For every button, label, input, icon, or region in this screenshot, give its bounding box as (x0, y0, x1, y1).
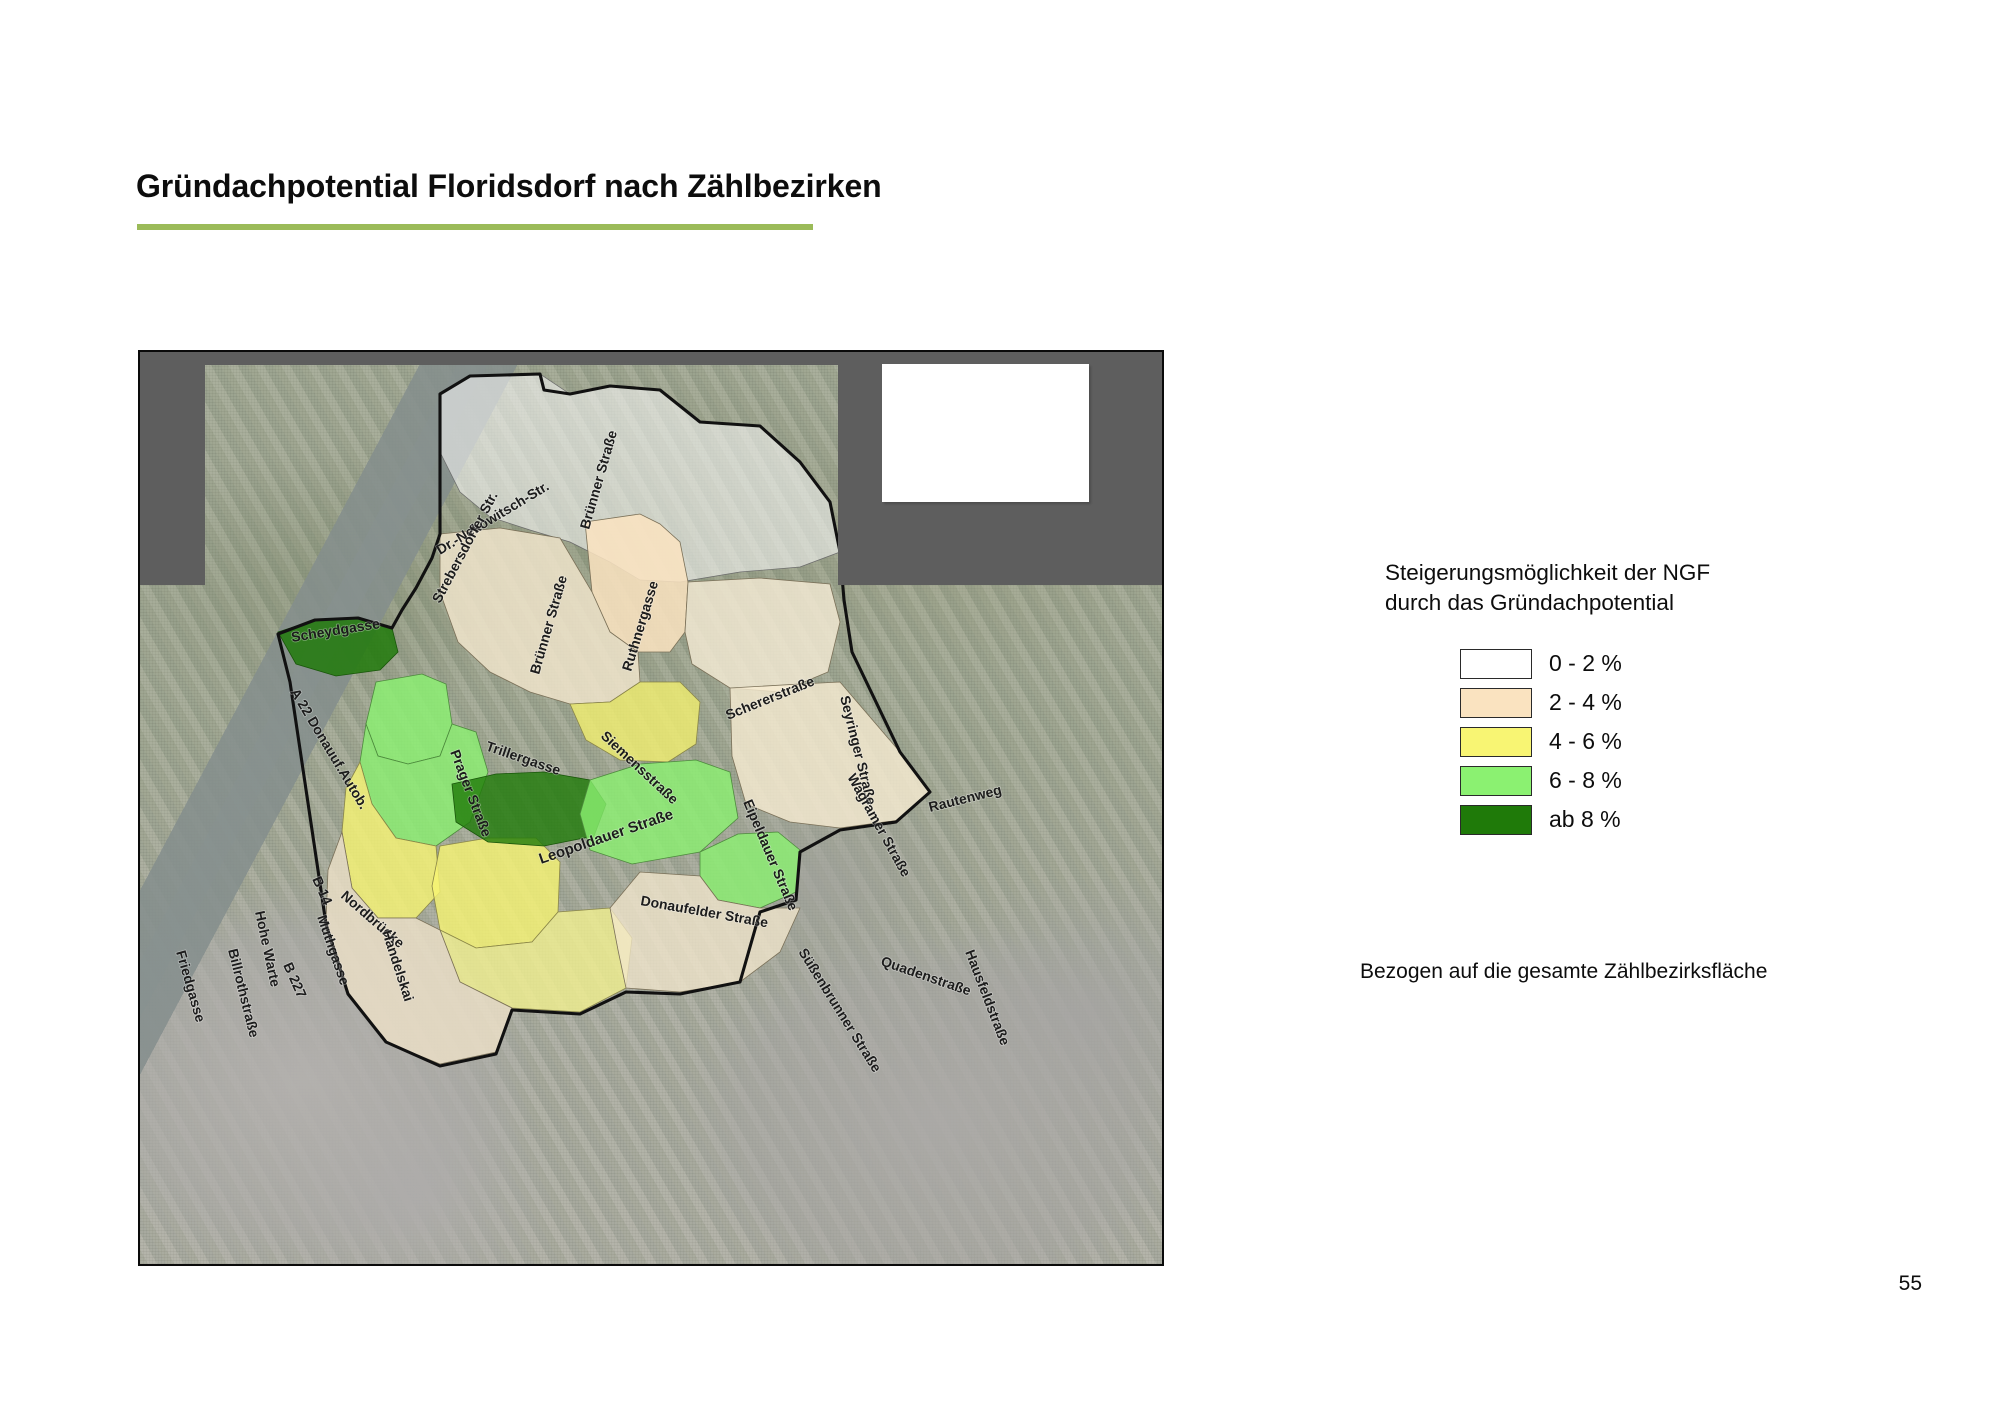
zone-grossfeld-west (366, 674, 452, 764)
legend-reference-note: Bezogen auf die gesamte Zählbezirksfläch… (1360, 960, 1767, 984)
legend-swatch-4-6 (1460, 727, 1532, 757)
legend-swatch-0-2 (1460, 649, 1532, 679)
map-mask-top-left (140, 352, 205, 585)
map-legend: Steigerungsmöglichkeit der NGF durch das… (1385, 558, 1905, 839)
legend-item-6-8: 6 - 8 % (1460, 761, 1905, 800)
title-underline-rule (137, 224, 813, 230)
legend-swatch-ab-8 (1460, 805, 1532, 835)
map-figure: Dr.-Nekowitsch-Str.Strebersdorfer Str.Br… (138, 350, 1164, 1266)
legend-item-2-4: 2 - 4 % (1460, 683, 1905, 722)
zone-nordost-felder (685, 578, 840, 692)
map-inset-box (882, 364, 1089, 503)
legend-label-6-8: 6 - 8 % (1549, 767, 1622, 794)
legend-item-0-2: 0 - 2 % (1460, 644, 1905, 683)
page-number: 55 (1899, 1272, 1922, 1296)
legend-label-2-4: 2 - 4 % (1549, 689, 1622, 716)
legend-label-0-2: 0 - 2 % (1549, 650, 1622, 677)
legend-swatch-2-4 (1460, 688, 1532, 718)
legend-label-4-6: 4 - 6 % (1549, 728, 1622, 755)
legend-item-ab-8: ab 8 % (1460, 800, 1905, 839)
page-title: Gründachpotential Floridsdorf nach Zählb… (136, 168, 882, 205)
legend-heading: Steigerungsmöglichkeit der NGF durch das… (1385, 558, 1905, 618)
legend-item-4-6: 4 - 6 % (1460, 722, 1905, 761)
legend-label-ab-8: ab 8 % (1549, 806, 1621, 833)
map-mask-top-strip (205, 352, 838, 365)
legend-swatch-6-8 (1460, 766, 1532, 796)
zone-schererstrasse (730, 682, 930, 828)
map-canvas: Dr.-Nekowitsch-Str.Strebersdorfer Str.Br… (140, 352, 1162, 1264)
legend-item-list: 0 - 2 % 2 - 4 % 4 - 6 % 6 - 8 % ab 8 % (1385, 644, 1905, 839)
